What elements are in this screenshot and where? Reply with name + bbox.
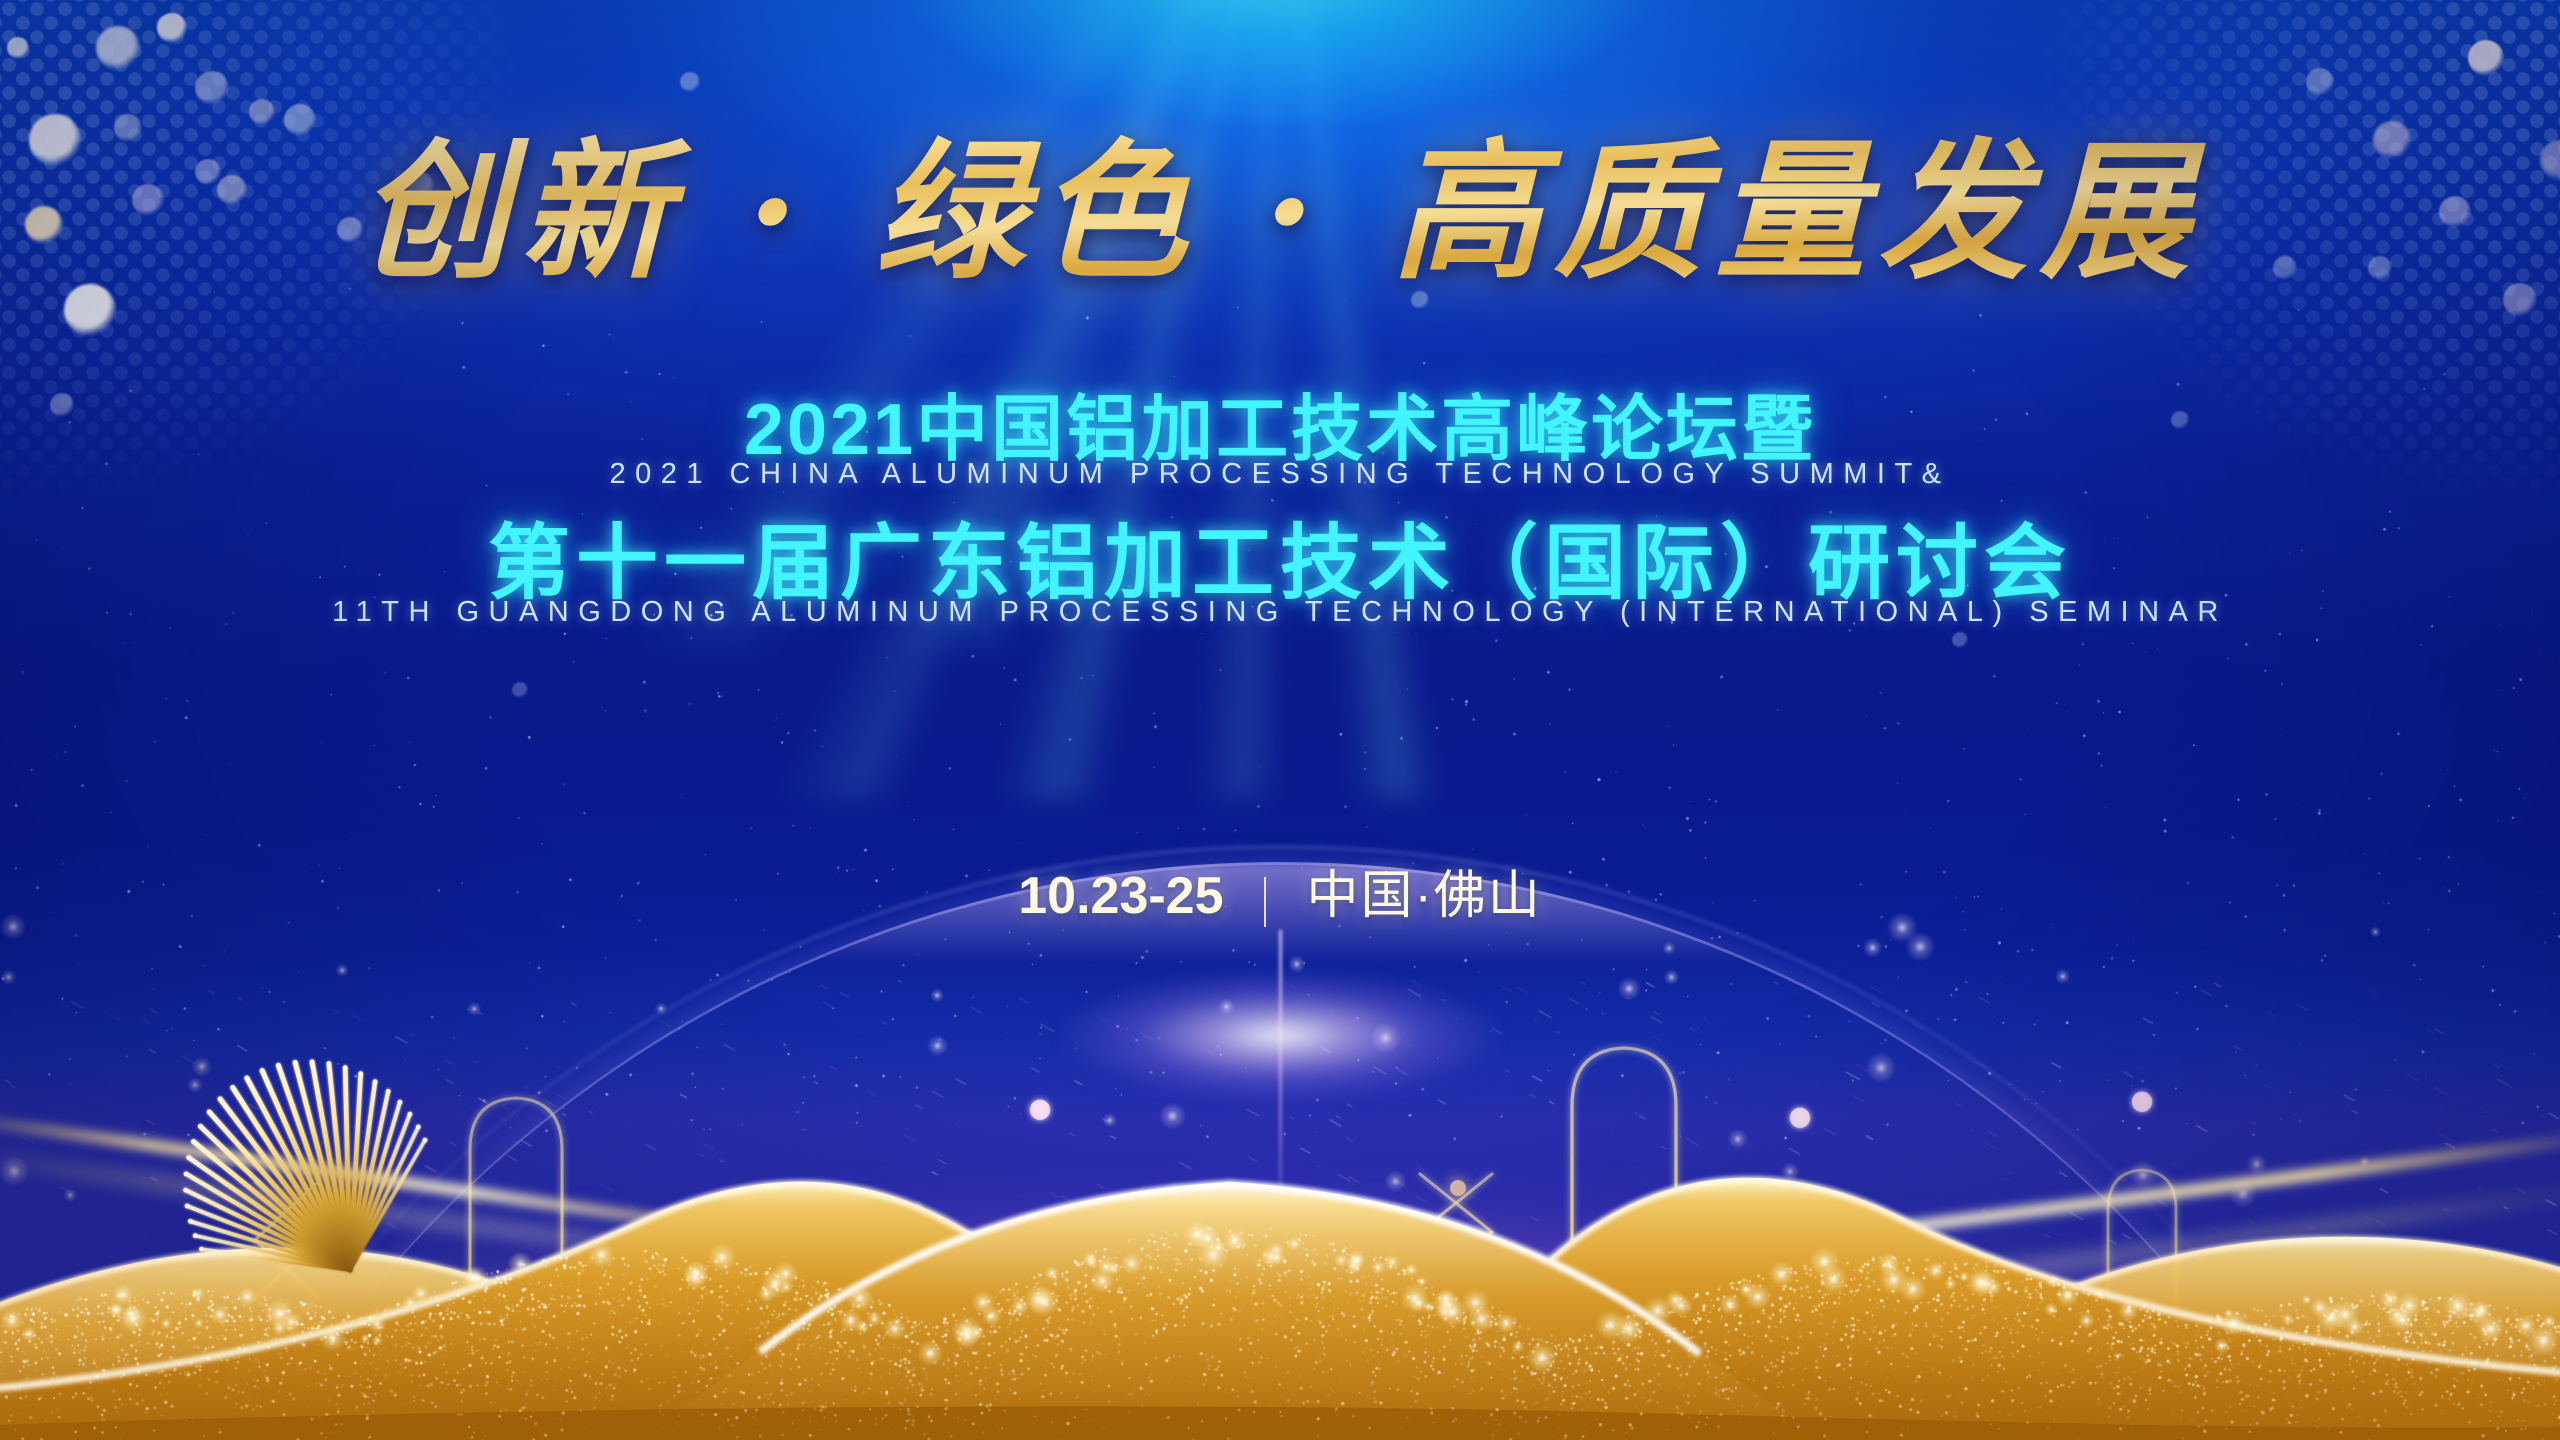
conference-banner: 创新 · 绿色 · 高质量发展 2021中国铝加工技术高峰论坛暨 2021 CH… — [0, 0, 2560, 1440]
